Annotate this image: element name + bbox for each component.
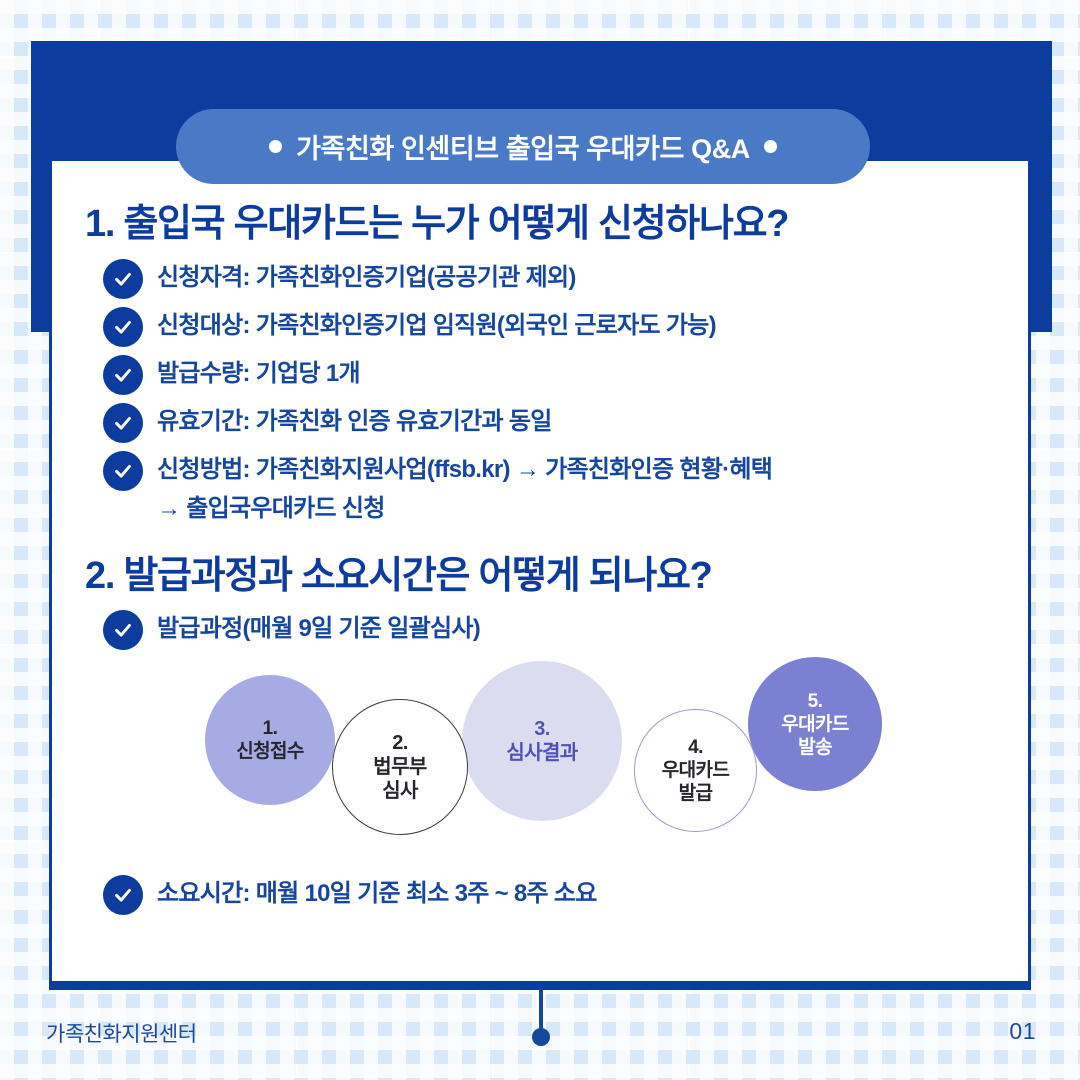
list-item-label-line-1: 신청방법: 가족친화지원사업(ffsb.kr) → 가족친화인증 현황·혜택 (157, 456, 772, 483)
section-2-bullet-list-after: 소요시간: 매월 10일 기준 최소 3주 ~ 8주 소요 (83, 874, 997, 915)
check-circle-icon (103, 875, 143, 915)
list-item: 신청자격: 가족친화인증기업(공공기관 제외) (83, 258, 997, 299)
check-circle-icon (103, 403, 143, 443)
pin-dot (532, 1028, 550, 1046)
list-item: 유효기간: 가족친화 인증 유효기간과 동일 (83, 402, 997, 443)
bullet-dot-icon (764, 140, 777, 153)
list-item-label: 발급수량: 기업당 1개 (157, 354, 360, 394)
check-circle-icon (103, 355, 143, 395)
process-step-2: 2. 법무부 심사 (332, 699, 468, 835)
process-step-label: 법무부 (373, 755, 426, 779)
list-item-label: 신청자격: 가족친화인증기업(공공기관 제외) (157, 258, 576, 298)
section-2-title: 2. 발급과정과 소요시간은 어떻게 되나요? (85, 555, 997, 598)
process-step-label: 우대카드 (662, 759, 730, 782)
section-1-title: 1. 출입국 우대카드는 누가 어떻게 신청하나요? (85, 203, 997, 246)
process-step-label: 심사결과 (506, 741, 577, 765)
process-step-number: 4. (688, 736, 703, 759)
process-step-5: 5. 우대카드 발송 (748, 657, 882, 791)
section-2-bullet-list: 발급과정(매월 9일 기준 일괄심사) (83, 609, 997, 650)
page-number: 01 (1009, 1018, 1036, 1045)
check-circle-icon (103, 451, 143, 491)
process-step-label-line-2: 발급 (679, 782, 713, 805)
list-item-label: 유효기간: 가족친화 인증 유효기간과 동일 (157, 402, 552, 442)
list-item-label: 신청대상: 가족친화인증기업 임직원(외국인 근로자도 가능) (157, 306, 716, 346)
list-item: 신청대상: 가족친화인증기업 임직원(외국인 근로자도 가능) (83, 306, 997, 347)
footer-organization: 가족친화지원센터 (46, 1018, 197, 1048)
process-step-label-line-2: 발송 (798, 736, 832, 759)
card-content: 1. 출입국 우대카드는 누가 어떻게 신청하나요? 신청자격: 가족친화인증기… (49, 161, 1031, 990)
process-step-number: 3. (534, 717, 549, 741)
section-1-bullet-list: 신청자격: 가족친화인증기업(공공기관 제외) 신청대상: 가족친화인증기업 임… (83, 258, 997, 529)
check-circle-icon (103, 259, 143, 299)
process-step-label: 우대카드 (781, 713, 849, 736)
process-step-number: 5. (808, 690, 823, 713)
list-item: 소요시간: 매월 10일 기준 최소 3주 ~ 8주 소요 (83, 874, 997, 915)
process-step-3: 3. 심사결과 (462, 661, 622, 821)
process-step-number: 2. (392, 731, 407, 755)
process-step-1: 1. 신청접수 (205, 675, 335, 805)
list-item-label: 소요시간: 매월 10일 기준 최소 3주 ~ 8주 소요 (157, 874, 597, 914)
list-item: 신청방법: 가족친화지원사업(ffsb.kr) → 가족친화인증 현황·혜택 →… (83, 450, 997, 529)
header-badge: 가족친화 인센티브 출입국 우대카드 Q&A (176, 109, 870, 184)
process-step-4: 4. 우대카드 발급 (634, 709, 757, 832)
list-item: 발급수량: 기업당 1개 (83, 354, 997, 395)
list-item-label: 발급과정(매월 9일 기준 일괄심사) (157, 609, 480, 649)
process-step-label: 신청접수 (236, 740, 304, 763)
process-step-number: 1. (263, 717, 278, 740)
list-item-label-multiline: 신청방법: 가족친화지원사업(ffsb.kr) → 가족친화인증 현황·혜택 →… (157, 450, 772, 529)
check-circle-icon (103, 610, 143, 650)
list-item-label-line-2: → 출입국우대카드 신청 (157, 489, 772, 529)
list-item: 발급과정(매월 9일 기준 일괄심사) (83, 609, 997, 650)
process-flow-diagram: 1. 신청접수 2. 법무부 심사 3. 심사결과 4. 우대카드 발급 5. … (83, 657, 997, 862)
header-badge-label: 가족친화 인센티브 출입국 우대카드 Q&A (296, 127, 750, 166)
infographic-page: 가족친화 인센티브 출입국 우대카드 Q&A 1. 출입국 우대카드는 누가 어… (0, 0, 1080, 1080)
check-circle-icon (103, 307, 143, 347)
process-step-label-line-2: 심사 (382, 779, 418, 803)
bullet-dot-icon (269, 140, 282, 153)
